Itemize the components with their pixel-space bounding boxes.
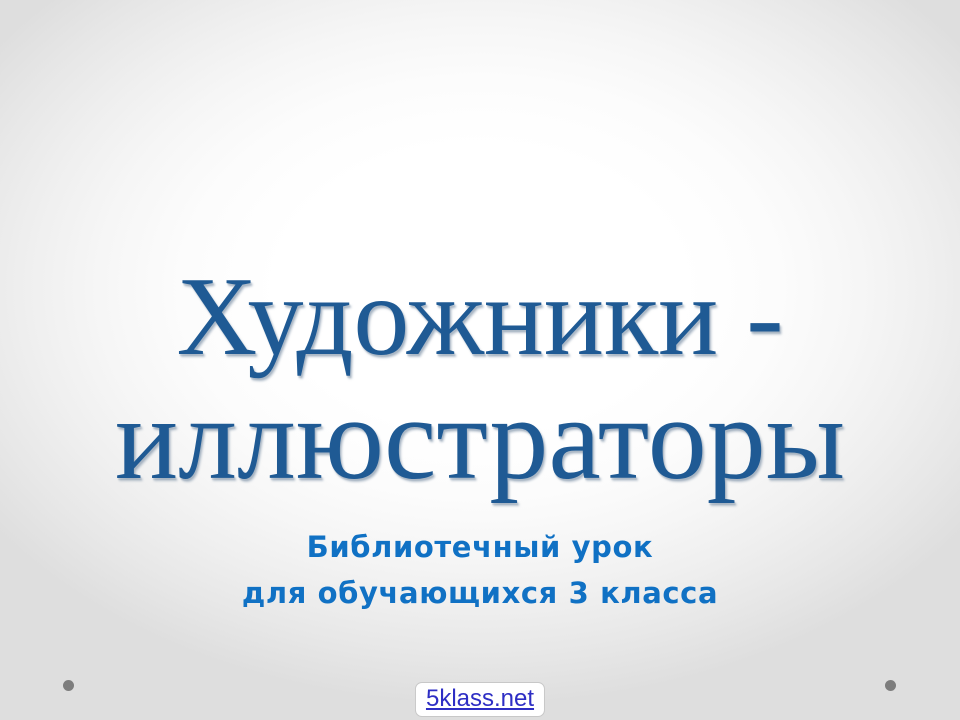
watermark-badge[interactable]: 5klass.net — [415, 682, 545, 717]
subtitle-line-2: для обучающихся 3 класса — [0, 570, 960, 616]
subtitle-line-1: Библиотечный урок — [0, 524, 960, 570]
title-line-2: иллюстраторы — [0, 376, 960, 502]
watermark-link[interactable]: 5klass.net — [426, 685, 534, 713]
title-line-1: Художники - — [0, 258, 960, 376]
bottom-right-dot-icon — [885, 680, 896, 691]
slide-title: Художники - иллюстраторы — [0, 258, 960, 502]
slide-subtitle: Библиотечный урок для обучающихся 3 клас… — [0, 524, 960, 616]
bottom-left-dot-icon — [63, 680, 74, 691]
presentation-slide: Художники - иллюстраторы Библиотечный ур… — [0, 0, 960, 720]
